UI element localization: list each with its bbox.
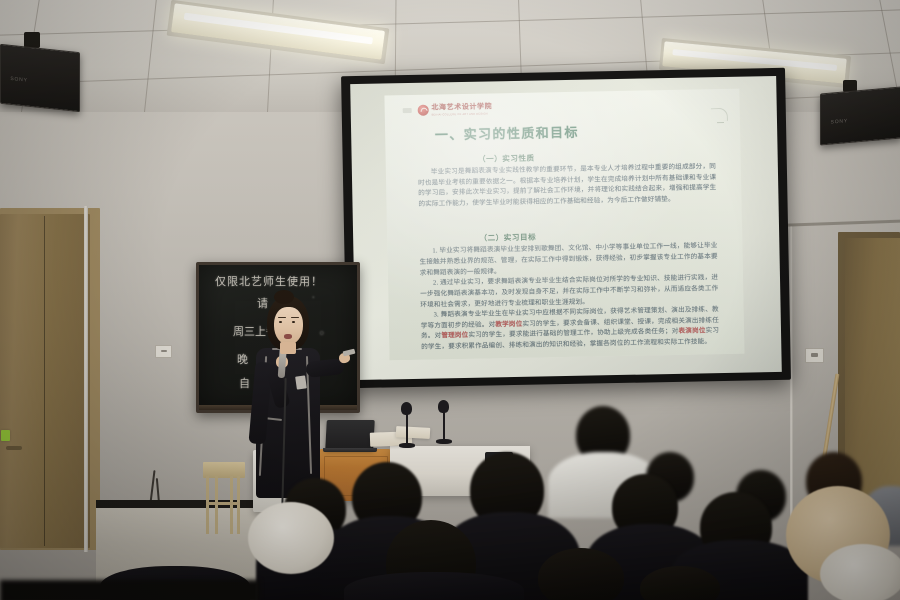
door-sticker-green [1,430,10,441]
slide-logo-placeholder-box [402,108,411,113]
presenter-mouth [284,334,292,339]
slide-section-1-body: 毕业实习是舞蹈表演专业实践性教学的重要环节，是本专业人才培养过程中重要的组成部分… [418,162,717,210]
institution-logo-icon [417,105,428,116]
wall-conduit-left [84,206,88,552]
blackboard-line-1: 仅限北艺师生使用！ [215,273,323,289]
table-mic-base-2 [436,439,452,444]
presenter-jacket-badge [295,375,307,389]
stool-rail [206,502,240,505]
institution-name-en: BEIHAI COLLEGE OF ART AND DESIGN [432,113,493,117]
projection-screen-surface: 北海艺术设计学院 BEIHAI COLLEGE OF ART AND DESIG… [350,76,782,380]
presenter-neck [280,342,296,354]
stool-leg [215,476,218,534]
slide-title: 一、实习的性质和目标 [435,122,579,144]
institution-name-cn: 北海艺术设计学院 [431,102,492,113]
slide-highlighted-term: 管理岗位 [441,332,468,340]
speaker-brand-label: SONY [10,76,27,84]
door-handle[interactable] [6,446,22,450]
slide-institution-logo: 北海艺术设计学院 BEIHAI COLLEGE OF ART AND DESIG… [402,102,492,118]
presenter-hair-bun [274,290,294,304]
table-mic-stand-2 [443,408,445,442]
slide-section-2-heading: （二）实习目标 [479,232,536,244]
table-mic-base-1 [399,443,415,448]
presenter-face [274,307,303,345]
wall-outlet-left[interactable] [155,345,172,358]
speaker-brand-label: SONY [831,118,848,126]
slide-highlighted-term: 教学岗位 [495,320,522,328]
door-seam [44,216,45,546]
left-door[interactable] [0,214,90,548]
slide-corner-dash-icon [717,122,724,123]
table-mic-head-2 [438,400,449,413]
table-mic-stand-1 [406,410,408,446]
foreground-shadow-left [0,580,260,600]
stool-leg [230,476,233,534]
slide-section-2-item-3: 3. 舞蹈表演专业毕业生在毕业实习中应根据不同实际岗位，获得艺术管理策划、演出及… [420,305,719,353]
fur-hood-grey [820,544,900,600]
classroom-photo-scene: SONY SONY [0,0,900,600]
slide-highlighted-term: 表演岗位 [678,328,705,336]
slide-section-1-heading: （一）实习性质 [478,152,535,164]
wall-speaker-right: SONY [820,86,900,145]
light-switch-right[interactable] [805,348,824,363]
presentation-slide: 北海艺术设计学院 BEIHAI COLLEGE OF ART AND DESIG… [384,89,744,361]
stool-leg [206,476,209,534]
fur-hood-white [248,502,334,574]
projection-screen-frame: 北海艺术设计学院 BEIHAI COLLEGE OF ART AND DESIG… [341,68,791,388]
wall-speaker-left: SONY [0,44,80,112]
slide-body-text: 实习的学生，要求能进行基础的管理工作，协助上级完成各类任务；对 [468,328,678,339]
slide-corner-decoration-icon [710,107,727,120]
papers-on-table-2 [396,426,431,439]
table-mic-head-1 [401,402,412,415]
